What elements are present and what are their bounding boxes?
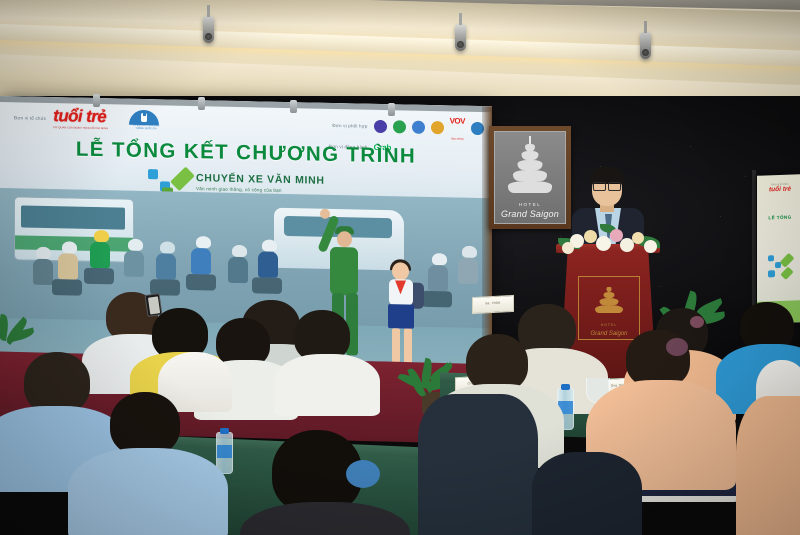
organizer-label: Đơn vị tổ chức — [14, 115, 46, 121]
rollup-x-logo — [766, 252, 796, 281]
atgt-logo-sub: ỦY BAN AN TOÀN GIAO THÔNG QUỐC GIA — [129, 124, 163, 131]
partner-logo-4 — [431, 121, 444, 134]
banner-organizer-logos: Đơn vị tổ chức tuổi trẻ CƠ QUAN CỦA ĐOÀN… — [14, 106, 159, 131]
banner-clip — [388, 103, 395, 116]
ceiling — [0, 0, 800, 108]
hair-clip — [666, 338, 688, 356]
pagoda-icon — [592, 287, 626, 317]
vov-logo: VOV Giao thông — [450, 111, 465, 143]
partner-logo-2 — [393, 120, 406, 133]
banner-clip — [290, 100, 297, 113]
rollup-tuoitre-logo: tuổi trẻ — [757, 185, 800, 194]
hotel-sign-line2: Grand Saigon — [495, 209, 565, 219]
spotlight — [203, 16, 214, 43]
glasses-icon — [593, 182, 621, 189]
hotel-sign-line1: HOTEL — [495, 202, 565, 207]
podium-emblem: HOTEL Grand Saigon — [578, 276, 640, 340]
hotel-sign: HOTEL Grand Saigon — [489, 126, 571, 229]
podium-line1: HOTEL — [579, 323, 639, 327]
name-card: Bà. TRẦN — [472, 295, 514, 314]
banner-clip — [198, 97, 205, 110]
pagoda-icon — [506, 142, 554, 198]
tuoitre-logo: tuổi trẻ — [53, 106, 106, 126]
spotlight — [640, 32, 651, 59]
partner-logo-3 — [412, 120, 425, 133]
banner-clip — [93, 94, 100, 107]
cooperate-label: Đơn vị phối hợp — [324, 122, 368, 128]
hair-clip — [690, 316, 704, 328]
podium-line2: Grand Saigon — [579, 331, 639, 337]
spotlight — [455, 24, 466, 51]
rollup-title: LỄ TỔNG — [757, 214, 800, 221]
banner-program-block: CHUYẾN XE VĂN MINH Văn minh giao thông, … — [196, 172, 325, 193]
flower-arrangement — [556, 222, 662, 256]
atgt-logo: ỦY BAN AN TOÀN GIAO THÔNG QUỐC GIA — [129, 111, 159, 130]
name-card-text: Bà. TRẦN — [473, 300, 513, 306]
hair-clip — [346, 460, 380, 488]
phone — [145, 293, 163, 317]
partner-logo-1 — [374, 119, 387, 132]
banner-program-name: CHUYẾN XE VĂN MINH — [196, 172, 325, 187]
conference-photo: Đơn vị tổ chức tuổi trẻ CƠ QUAN CỦA ĐOÀN… — [0, 0, 800, 535]
